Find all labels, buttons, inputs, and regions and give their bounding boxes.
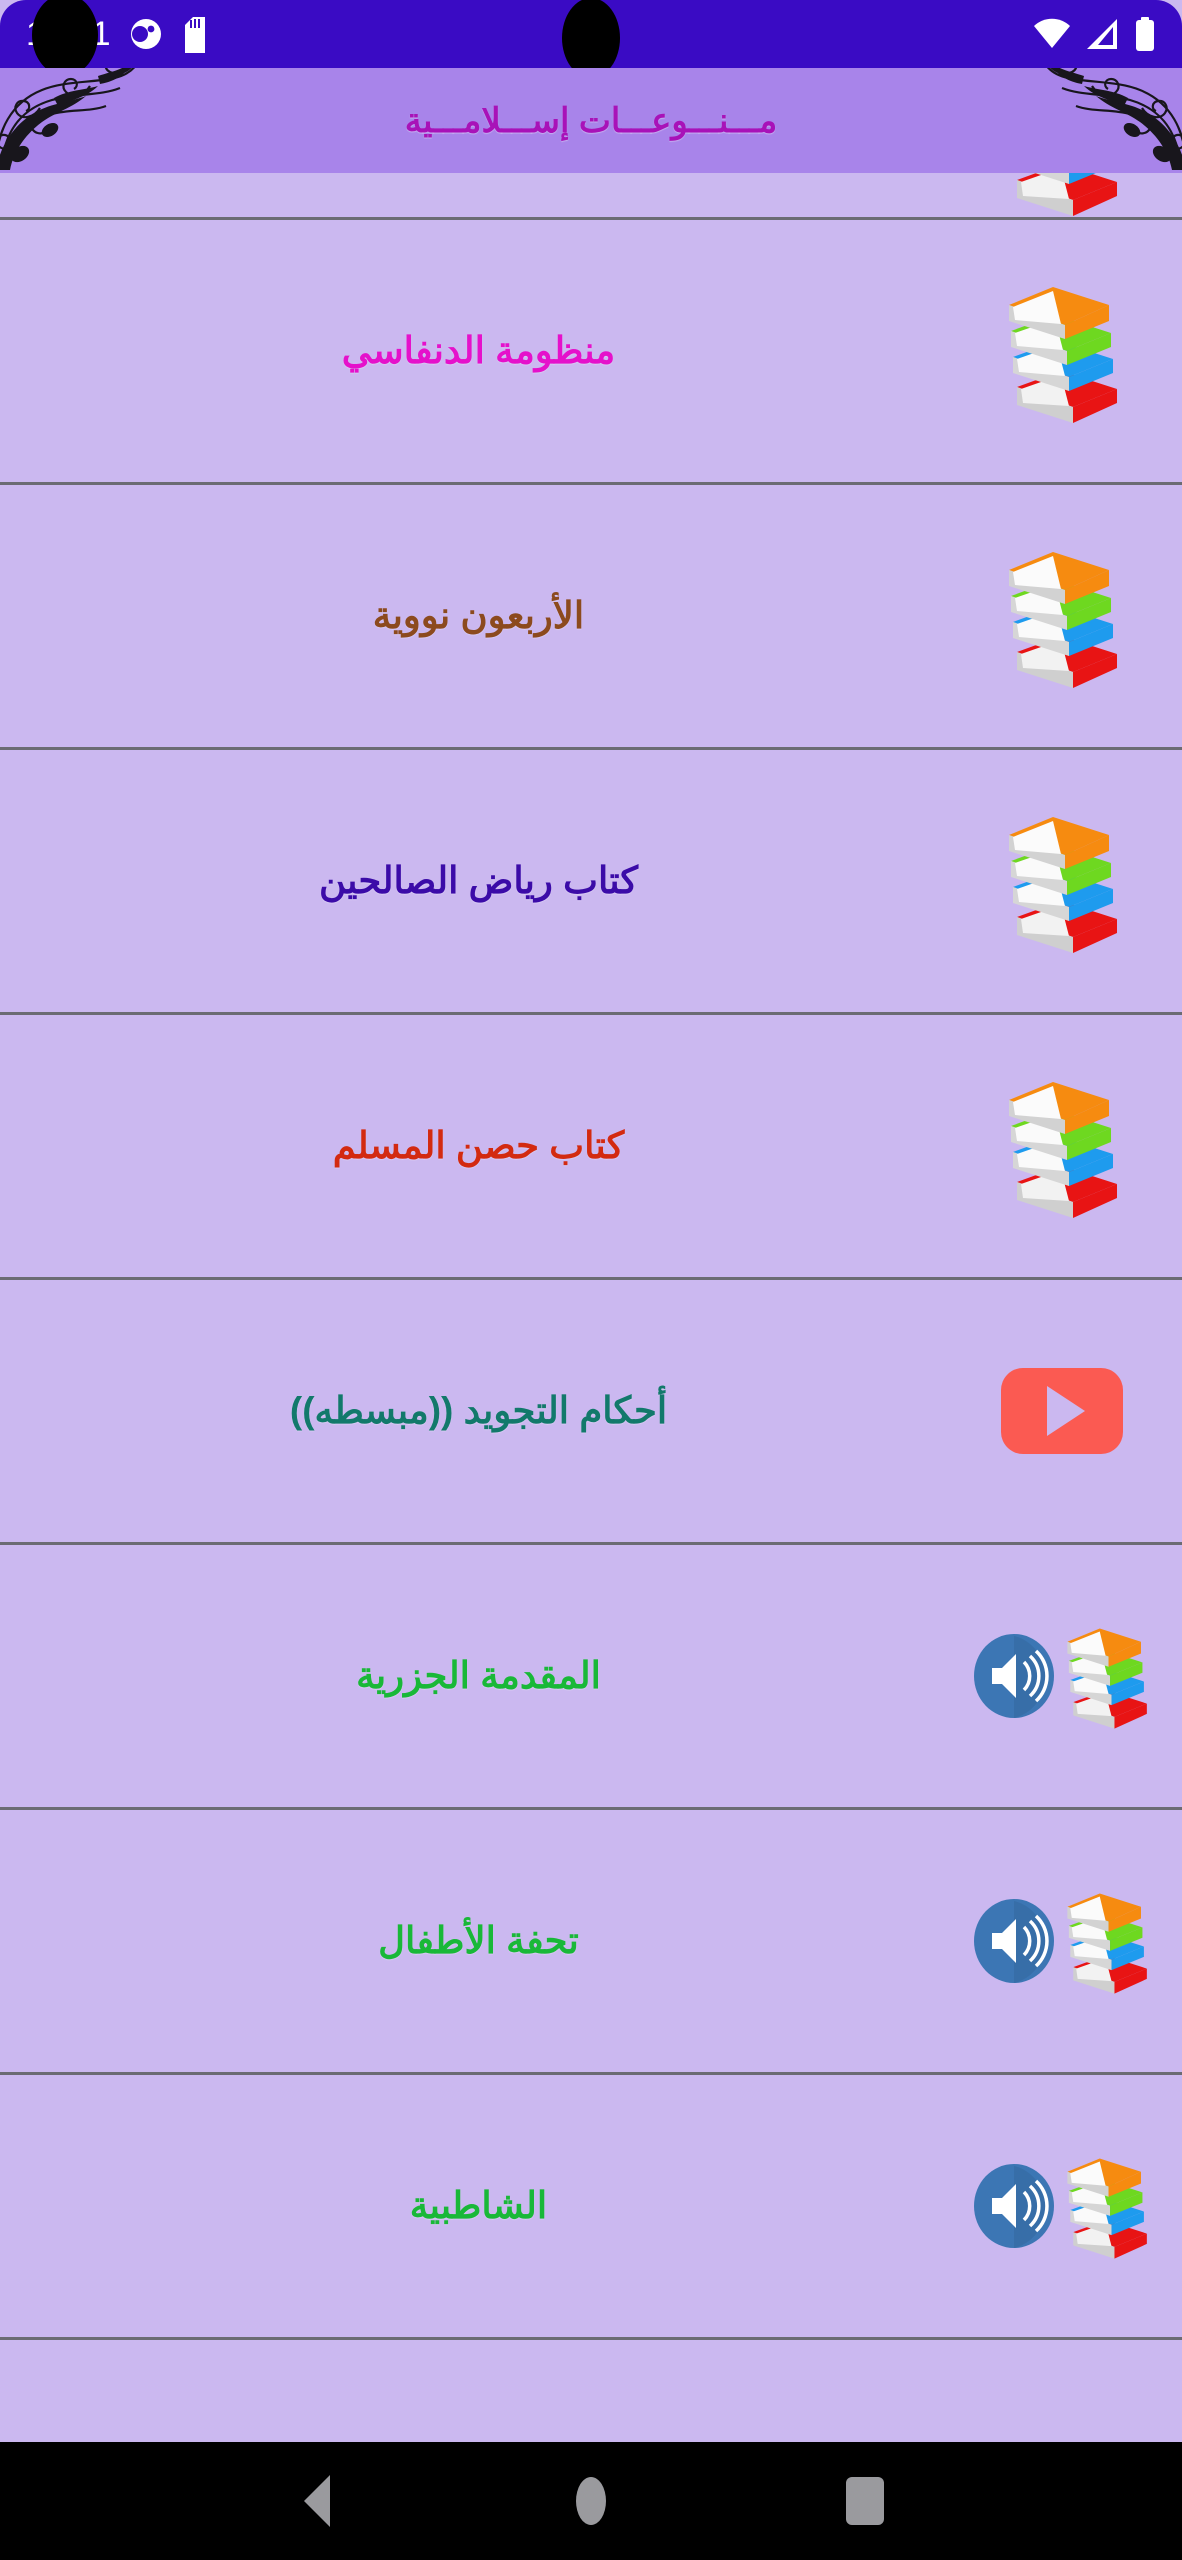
filigree-ornament-left-icon [0,68,144,170]
clock-badge-icon [127,15,165,53]
list-item-icon[interactable] [949,279,1174,424]
list-item-icon[interactable] [949,173,1174,217]
cellular-signal-icon [1086,18,1120,50]
list-item-icon[interactable] [949,544,1174,689]
list-item-label: الأربعون نووية [8,593,949,639]
home-button[interactable] [556,2466,626,2536]
list-item-label: تحفة الأطفال [8,1918,949,1964]
page-title: مـــنـــوعـــات إســـلامـــية [405,101,777,141]
list-item-icon[interactable] [949,1886,1174,1996]
list-item-label: الشاطبية [8,2183,949,2229]
content-list[interactable]: منظومة الدنفاسيالأربعون نوويةكتاب رياض ا… [0,173,1182,2442]
youtube-play-icon[interactable] [1001,1368,1123,1454]
books-stack-icon [1060,2151,1152,2261]
back-button[interactable] [282,2466,352,2536]
play-triangle-icon [1047,1386,1085,1436]
books-stack-icon [999,544,1124,689]
list-item[interactable]: كتاب حصن المسلم [0,1015,1182,1280]
list-item[interactable]: كتاب رياض الصالحين [0,750,1182,1015]
circle-home-icon [576,2477,606,2525]
square-recents-icon [846,2477,884,2525]
list-item[interactable]: المقدمة الجزرية [0,1545,1182,1810]
list-item-icon[interactable] [949,2151,1174,2261]
list-item-icon[interactable] [949,1368,1174,1454]
books-stack-icon [1060,1621,1152,1731]
battery-icon [1134,17,1156,51]
list-item-icon[interactable] [949,1074,1174,1219]
camera-punch-hole-center [562,0,620,68]
sd-card-icon [181,15,209,53]
list-item-label: المقدمة الجزرية [8,1653,949,1699]
recents-button[interactable] [830,2466,900,2536]
app-screen: 12:11 [0,0,1182,2560]
list-item[interactable]: أحكام التجويد ((مبسطه)) [0,1280,1182,1545]
list-item-icon[interactable] [949,809,1174,954]
triangle-back-icon [304,2475,330,2527]
books-stack-icon [999,809,1124,954]
wifi-icon [1032,18,1072,50]
books-stack-icon [999,279,1124,424]
filigree-ornament-right-icon [1038,68,1182,170]
app-header: مـــنـــوعـــات إســـلامـــية [0,68,1182,173]
list-item[interactable] [0,173,1182,220]
books-stack-icon [1060,1886,1152,1996]
list-item[interactable]: الشاطبية [0,2075,1182,2340]
list-item[interactable]: منظومة الدنفاسي [0,220,1182,485]
books-stack-icon [999,1074,1124,1219]
speaker-audio-icon [972,2164,1056,2248]
list-item-label: أحكام التجويد ((مبسطه)) [8,1388,949,1434]
status-bar-right-group [1032,17,1156,51]
list-item-label: منظومة الدنفاسي [8,328,949,374]
books-stack-icon [999,173,1124,217]
speaker-audio-icon [972,1899,1056,1983]
status-bar: 12:11 [0,0,1182,68]
list-item[interactable]: الأربعون نووية [0,485,1182,750]
list-item-label: كتاب حصن المسلم [8,1123,949,1169]
list-item-label: كتاب رياض الصالحين [8,858,949,904]
speaker-audio-icon [972,1634,1056,1718]
list-item-icon[interactable] [949,1621,1174,1731]
list-item[interactable]: تحفة الأطفال [0,1810,1182,2075]
camera-punch-hole-left [32,0,98,68]
android-nav-bar [0,2442,1182,2560]
